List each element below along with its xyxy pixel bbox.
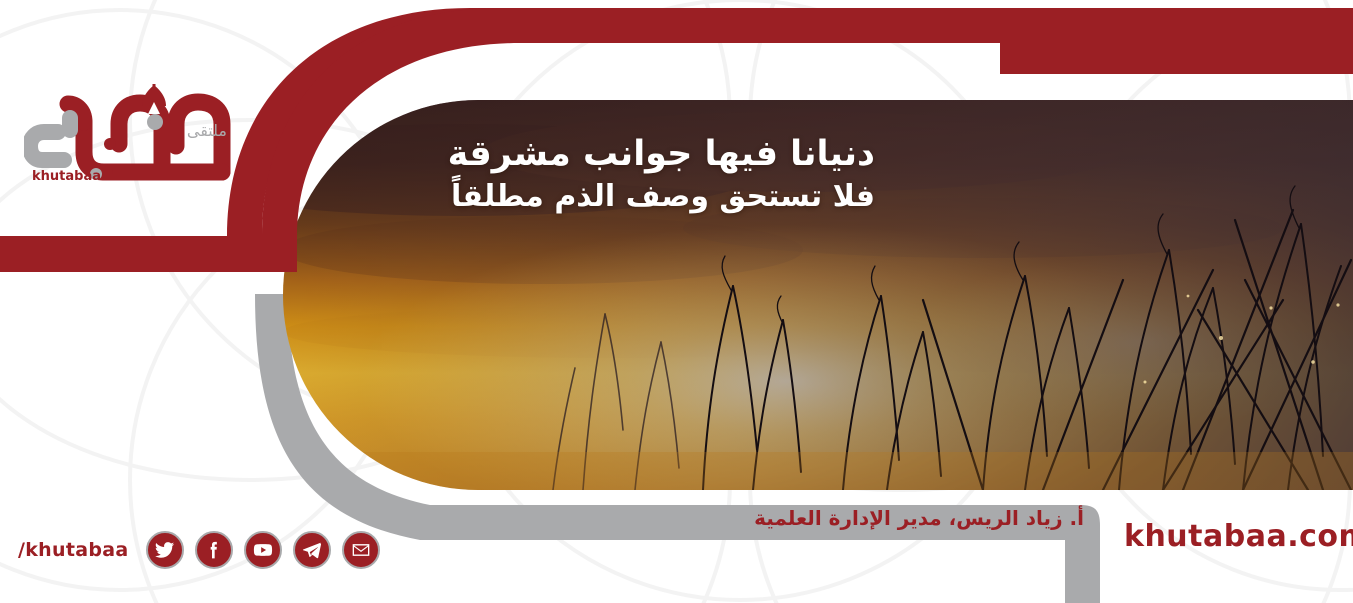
social-links: /khutabaa: [18, 531, 380, 569]
social-link-email[interactable]: [342, 531, 380, 569]
headline-line-1: دنيانا فيها جوانب مشرقة: [448, 132, 875, 177]
social-handle: /khutabaa: [18, 539, 128, 561]
logo-prefix-arabic: ملتقى: [187, 121, 227, 140]
headline: دنيانا فيها جوانب مشرقة فلا تستحق وصف ال…: [448, 132, 875, 216]
headline-line-2: فلا تستحق وصف الذم مطلقاً: [448, 177, 875, 216]
logo-latin-wordmark: khutabaa: [32, 169, 101, 184]
social-link-twitter[interactable]: [146, 531, 184, 569]
social-link-youtube[interactable]: [244, 531, 282, 569]
khutabaa-logo[interactable]: ملتقى khutabaa: [24, 84, 264, 184]
telegram-icon: [302, 540, 322, 560]
facebook-icon: [204, 540, 224, 560]
envelope-icon: [351, 540, 371, 560]
author-credit: أ. زياد الريس، مدير الإدارة العلمية: [754, 506, 1084, 530]
site-url[interactable]: khutabaa.com: [1124, 519, 1353, 554]
social-link-facebook[interactable]: [195, 531, 233, 569]
social-link-telegram[interactable]: [293, 531, 331, 569]
twitter-icon: [155, 540, 175, 560]
banner-canvas: .bl { stroke:#140d12; stroke-linecap:rou…: [0, 0, 1353, 603]
youtube-icon: [253, 540, 273, 560]
